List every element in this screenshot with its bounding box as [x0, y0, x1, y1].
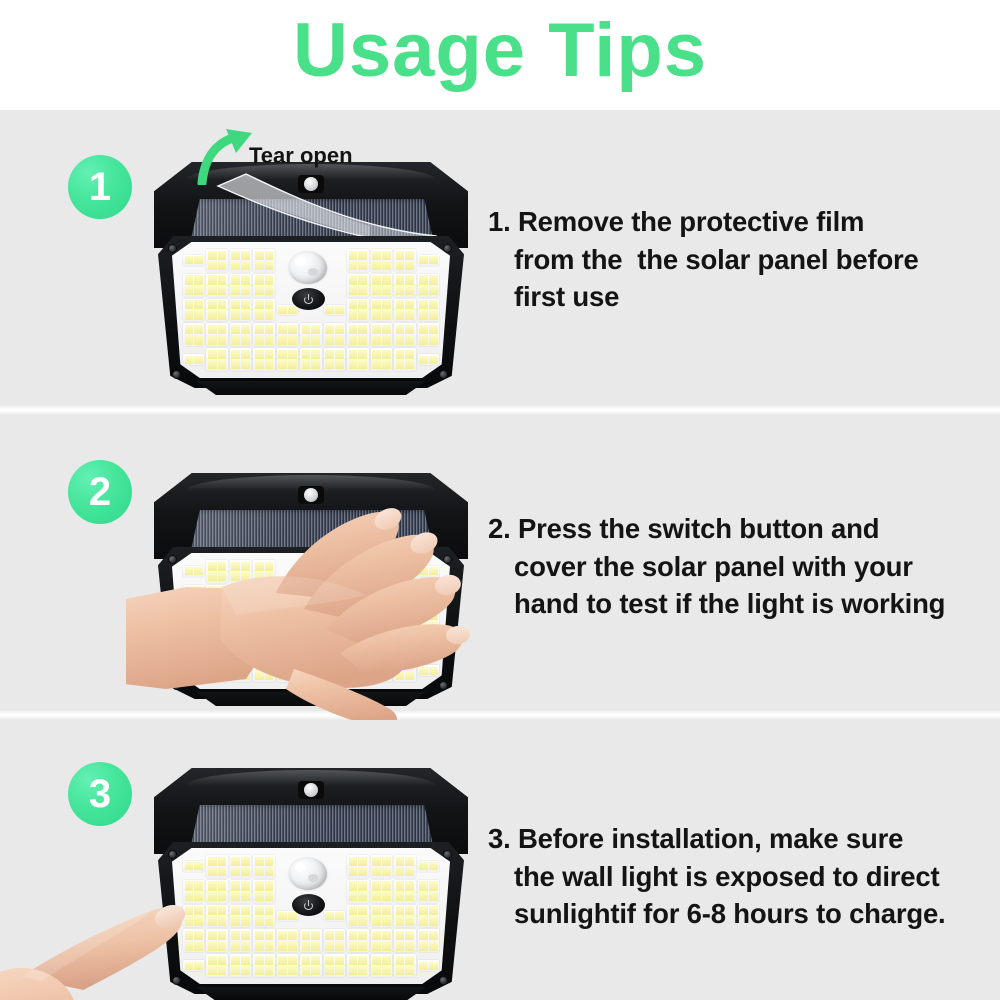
led-cluster: [277, 323, 298, 346]
led-cluster: [347, 929, 368, 952]
usage-tips-infographic: Usage Tips 1 Tear open: [0, 0, 1000, 1000]
led-cluster: [418, 960, 439, 971]
led-cluster: [253, 299, 274, 322]
lamp-body: [146, 162, 476, 397]
led-cluster: [371, 880, 392, 903]
lamp-base: [186, 381, 436, 395]
led-cluster: [394, 954, 415, 977]
step-number-3: 3: [89, 774, 111, 814]
led-cluster: [371, 274, 392, 297]
step-number-1: 1: [89, 167, 111, 207]
step-badge-1: 1: [68, 155, 132, 219]
top-sensor-hole: [298, 175, 324, 193]
led-cluster: [347, 905, 368, 928]
power-icon: [304, 900, 313, 910]
led-cluster: [324, 911, 345, 922]
led-cluster: [183, 299, 204, 322]
led-cluster: [371, 855, 392, 878]
led-cluster: [300, 954, 321, 977]
led-cluster: [206, 249, 227, 272]
led-cluster: [371, 249, 392, 272]
step-2-line-1: 2. Press the switch button and: [488, 510, 958, 548]
led-cluster: [300, 348, 321, 371]
led-cluster: [347, 855, 368, 878]
led-cluster: [206, 348, 227, 371]
led-cluster: [324, 274, 345, 297]
finger-pressing-button-illustration: [0, 870, 300, 1000]
led-cluster: [253, 249, 274, 272]
led-cluster: [230, 323, 251, 346]
led-cluster: [230, 299, 251, 322]
led-cluster: [347, 274, 368, 297]
header: Usage Tips: [0, 0, 1000, 110]
led-cluster: [418, 861, 439, 872]
step-badge-2: 2: [68, 460, 132, 524]
led-cluster: [394, 348, 415, 371]
led-cluster: [394, 880, 415, 903]
led-cluster: [347, 299, 368, 322]
led-cluster: [324, 323, 345, 346]
led-cluster: [300, 323, 321, 346]
step-2-line-3: hand to test if the light is working: [488, 585, 958, 623]
screw-top-right-icon: [443, 850, 452, 859]
led-cluster: [206, 274, 227, 297]
page-title: Usage Tips: [293, 13, 707, 97]
led-cluster: [347, 880, 368, 903]
led-cluster: [394, 299, 415, 322]
led-cluster: [183, 354, 204, 365]
led-cluster: [371, 299, 392, 322]
step-section-3: 3: [0, 720, 1000, 1000]
solar-lamp-illustration-2: [146, 473, 476, 708]
led-cluster: [371, 954, 392, 977]
led-cluster: [394, 274, 415, 297]
led-cluster: [394, 249, 415, 272]
power-button[interactable]: [292, 288, 325, 310]
screw-top-right-icon: [443, 244, 452, 253]
top-sensor-hole: [298, 781, 324, 799]
step-3-line-1: 3. Before installation, make sure: [488, 820, 958, 858]
led-cluster: [418, 323, 439, 346]
led-cluster: [324, 954, 345, 977]
led-cluster: [418, 905, 439, 928]
led-cluster: [253, 323, 274, 346]
step-instruction-2: 2. Press the switch button and cover the…: [488, 510, 958, 623]
led-cluster: [347, 323, 368, 346]
screw-top-left-icon: [168, 850, 177, 859]
step-instruction-1: 1. Remove the protective film from the t…: [488, 203, 958, 316]
led-cluster: [183, 274, 204, 297]
step-number-2: 2: [89, 472, 111, 512]
step-3-line-2: the wall light is exposed to direct: [488, 858, 958, 896]
step-section-2: 2: [0, 415, 1000, 720]
led-cluster: [300, 929, 321, 952]
tear-open-label: Tear open: [249, 143, 353, 169]
led-cluster: [418, 255, 439, 266]
led-cluster: [230, 249, 251, 272]
led-cluster: [206, 323, 227, 346]
hand-covering-solar-panel-illustration: [126, 483, 476, 720]
led-cluster: [183, 323, 204, 346]
led-cluster: [324, 348, 345, 371]
led-cluster: [277, 348, 298, 371]
power-icon: [304, 294, 313, 304]
screw-top-left-icon: [168, 244, 177, 253]
led-cluster: [394, 323, 415, 346]
step-badge-3: 3: [68, 762, 132, 826]
led-cluster: [324, 929, 345, 952]
led-cluster: [418, 274, 439, 297]
led-cluster: [394, 905, 415, 928]
led-cluster: [183, 255, 204, 266]
pir-motion-sensor-dome: [289, 252, 327, 284]
led-cluster: [394, 855, 415, 878]
led-cluster: [230, 274, 251, 297]
led-cluster: [347, 249, 368, 272]
led-cluster: [253, 348, 274, 371]
led-cluster: [324, 305, 345, 316]
step-section-1: 1 Tear open: [0, 110, 1000, 415]
led-cluster: [371, 348, 392, 371]
led-cluster: [206, 299, 227, 322]
step-3-line-3: sunlightif for 6-8 hours to charge.: [488, 895, 958, 933]
led-cluster: [371, 905, 392, 928]
step-1-line-1: 1. Remove the protective film: [488, 203, 958, 241]
led-cluster: [394, 929, 415, 952]
led-cluster: [347, 348, 368, 371]
solar-lamp-illustration-1: [146, 162, 476, 397]
led-cluster: [418, 880, 439, 903]
step-1-line-2: from the the solar panel before: [488, 241, 958, 279]
led-cluster: [418, 299, 439, 322]
step-instruction-3: 3. Before installation, make sure the wa…: [488, 820, 958, 933]
led-cluster: [418, 929, 439, 952]
led-cluster: [253, 274, 274, 297]
led-cluster: [230, 348, 251, 371]
led-cluster: [371, 929, 392, 952]
led-cluster: [418, 354, 439, 365]
led-cluster: [371, 323, 392, 346]
step-1-line-3: first use: [488, 278, 958, 316]
led-cluster: [347, 954, 368, 977]
led-cluster: [324, 880, 345, 903]
step-2-line-2: cover the solar panel with your: [488, 548, 958, 586]
